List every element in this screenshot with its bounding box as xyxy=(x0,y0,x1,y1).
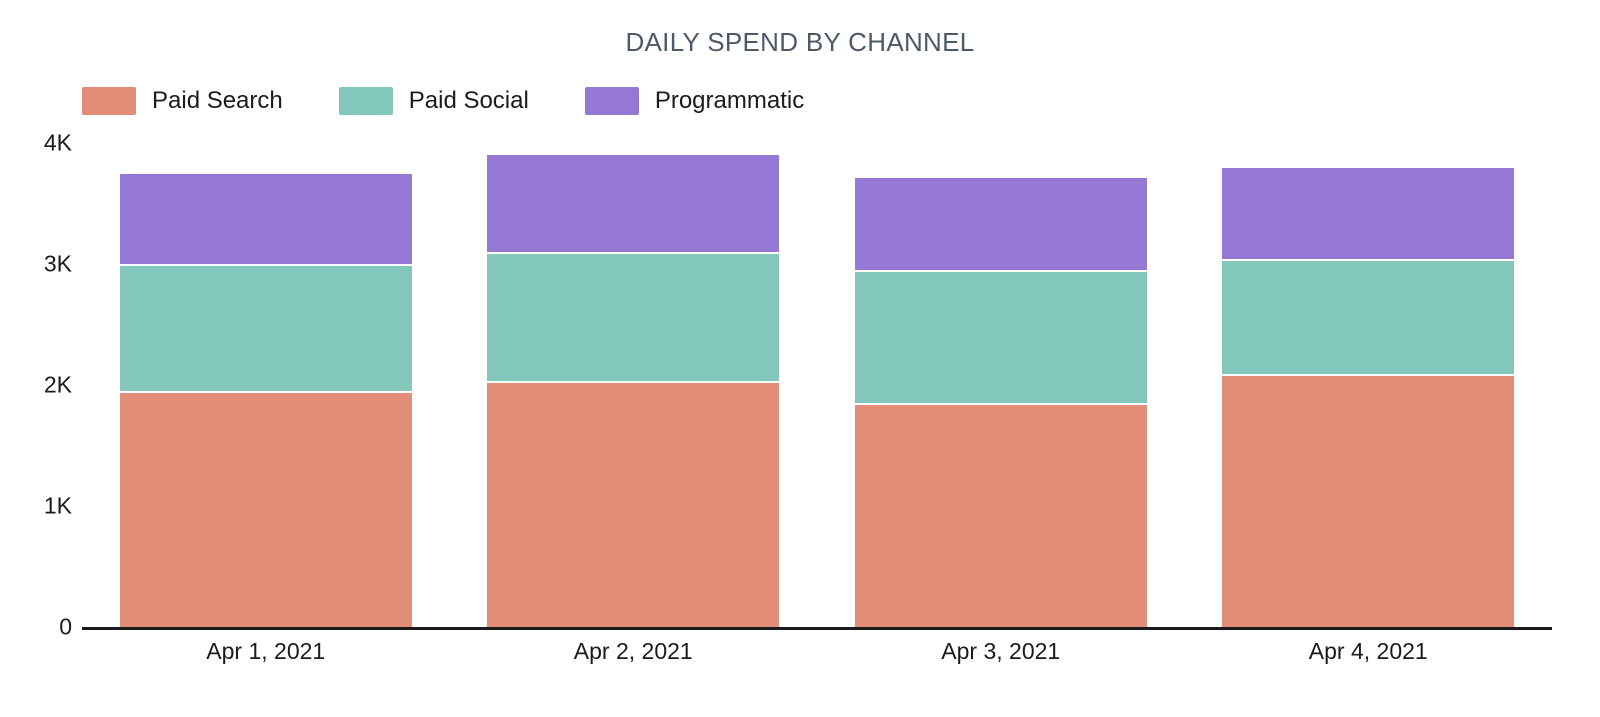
bar-segment[interactable] xyxy=(120,264,412,391)
bar-group[interactable] xyxy=(855,143,1147,627)
bar-group[interactable] xyxy=(1222,143,1514,627)
bar-stack xyxy=(1222,143,1514,627)
x-axis-tick-label: Apr 2, 2021 xyxy=(450,638,818,665)
bar-segment[interactable] xyxy=(855,176,1147,270)
bar-segment[interactable] xyxy=(1222,374,1514,627)
bar-segment[interactable] xyxy=(487,381,779,627)
x-axis-line xyxy=(82,627,1552,630)
bar-group[interactable] xyxy=(487,143,779,627)
bar-segment[interactable] xyxy=(487,153,779,252)
bar-group[interactable] xyxy=(120,143,412,627)
bar-segment[interactable] xyxy=(487,252,779,381)
x-axis-tick-label: Apr 3, 2021 xyxy=(817,638,1185,665)
bar-stack xyxy=(487,143,779,627)
bar-segment[interactable] xyxy=(855,403,1147,627)
bar-segment[interactable] xyxy=(120,172,412,264)
plot-bars-layer: Apr 1, 2021Apr 2, 2021Apr 3, 2021Apr 4, … xyxy=(0,0,1600,717)
stacked-bar-chart: DAILY SPEND BY CHANNEL Paid SearchPaid S… xyxy=(0,0,1600,717)
bar-stack xyxy=(855,143,1147,627)
bar-stack xyxy=(120,143,412,627)
bar-segment[interactable] xyxy=(1222,259,1514,374)
bar-segment[interactable] xyxy=(120,391,412,627)
x-axis-tick-label: Apr 1, 2021 xyxy=(82,638,450,665)
x-axis-tick-label: Apr 4, 2021 xyxy=(1185,638,1553,665)
bar-segment[interactable] xyxy=(1222,166,1514,259)
bar-segment[interactable] xyxy=(855,270,1147,403)
